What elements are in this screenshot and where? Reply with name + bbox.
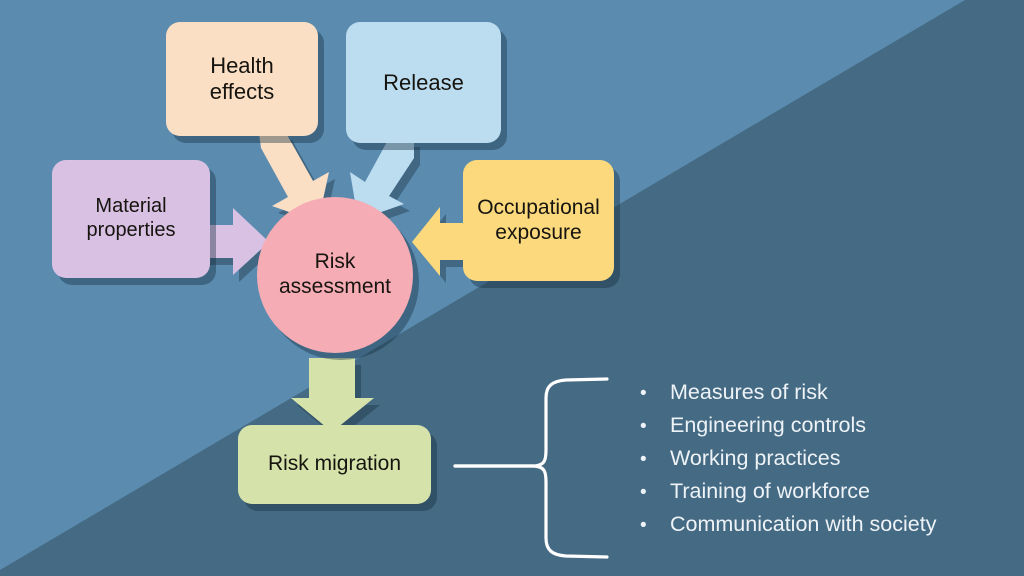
bullet-dot-icon: •: [640, 416, 670, 438]
list-item-label: Engineering controls: [670, 413, 866, 438]
list-item-label: Communication with society: [670, 512, 936, 537]
brace-upper-half: [455, 379, 607, 466]
list-item: • Training of workforce: [640, 479, 1010, 512]
list-item: • Measures of risk: [640, 380, 1010, 413]
bullet-dot-icon: •: [640, 449, 670, 471]
list-item: • Working practices: [640, 446, 1010, 479]
brace-lower-half: [455, 466, 607, 557]
mitigation-bullet-list: • Measures of risk • Engineering control…: [640, 380, 1010, 545]
list-item-label: Training of workforce: [670, 479, 870, 504]
list-item: • Engineering controls: [640, 413, 1010, 446]
bullet-dot-icon: •: [640, 482, 670, 504]
bullet-dot-icon: •: [640, 383, 670, 405]
list-item-label: Measures of risk: [670, 380, 828, 405]
bullet-dot-icon: •: [640, 515, 670, 537]
list-item-label: Working practices: [670, 446, 840, 471]
list-item: • Communication with society: [640, 512, 1010, 545]
diagram-canvas: Health effects Release Material properti…: [0, 0, 1024, 576]
